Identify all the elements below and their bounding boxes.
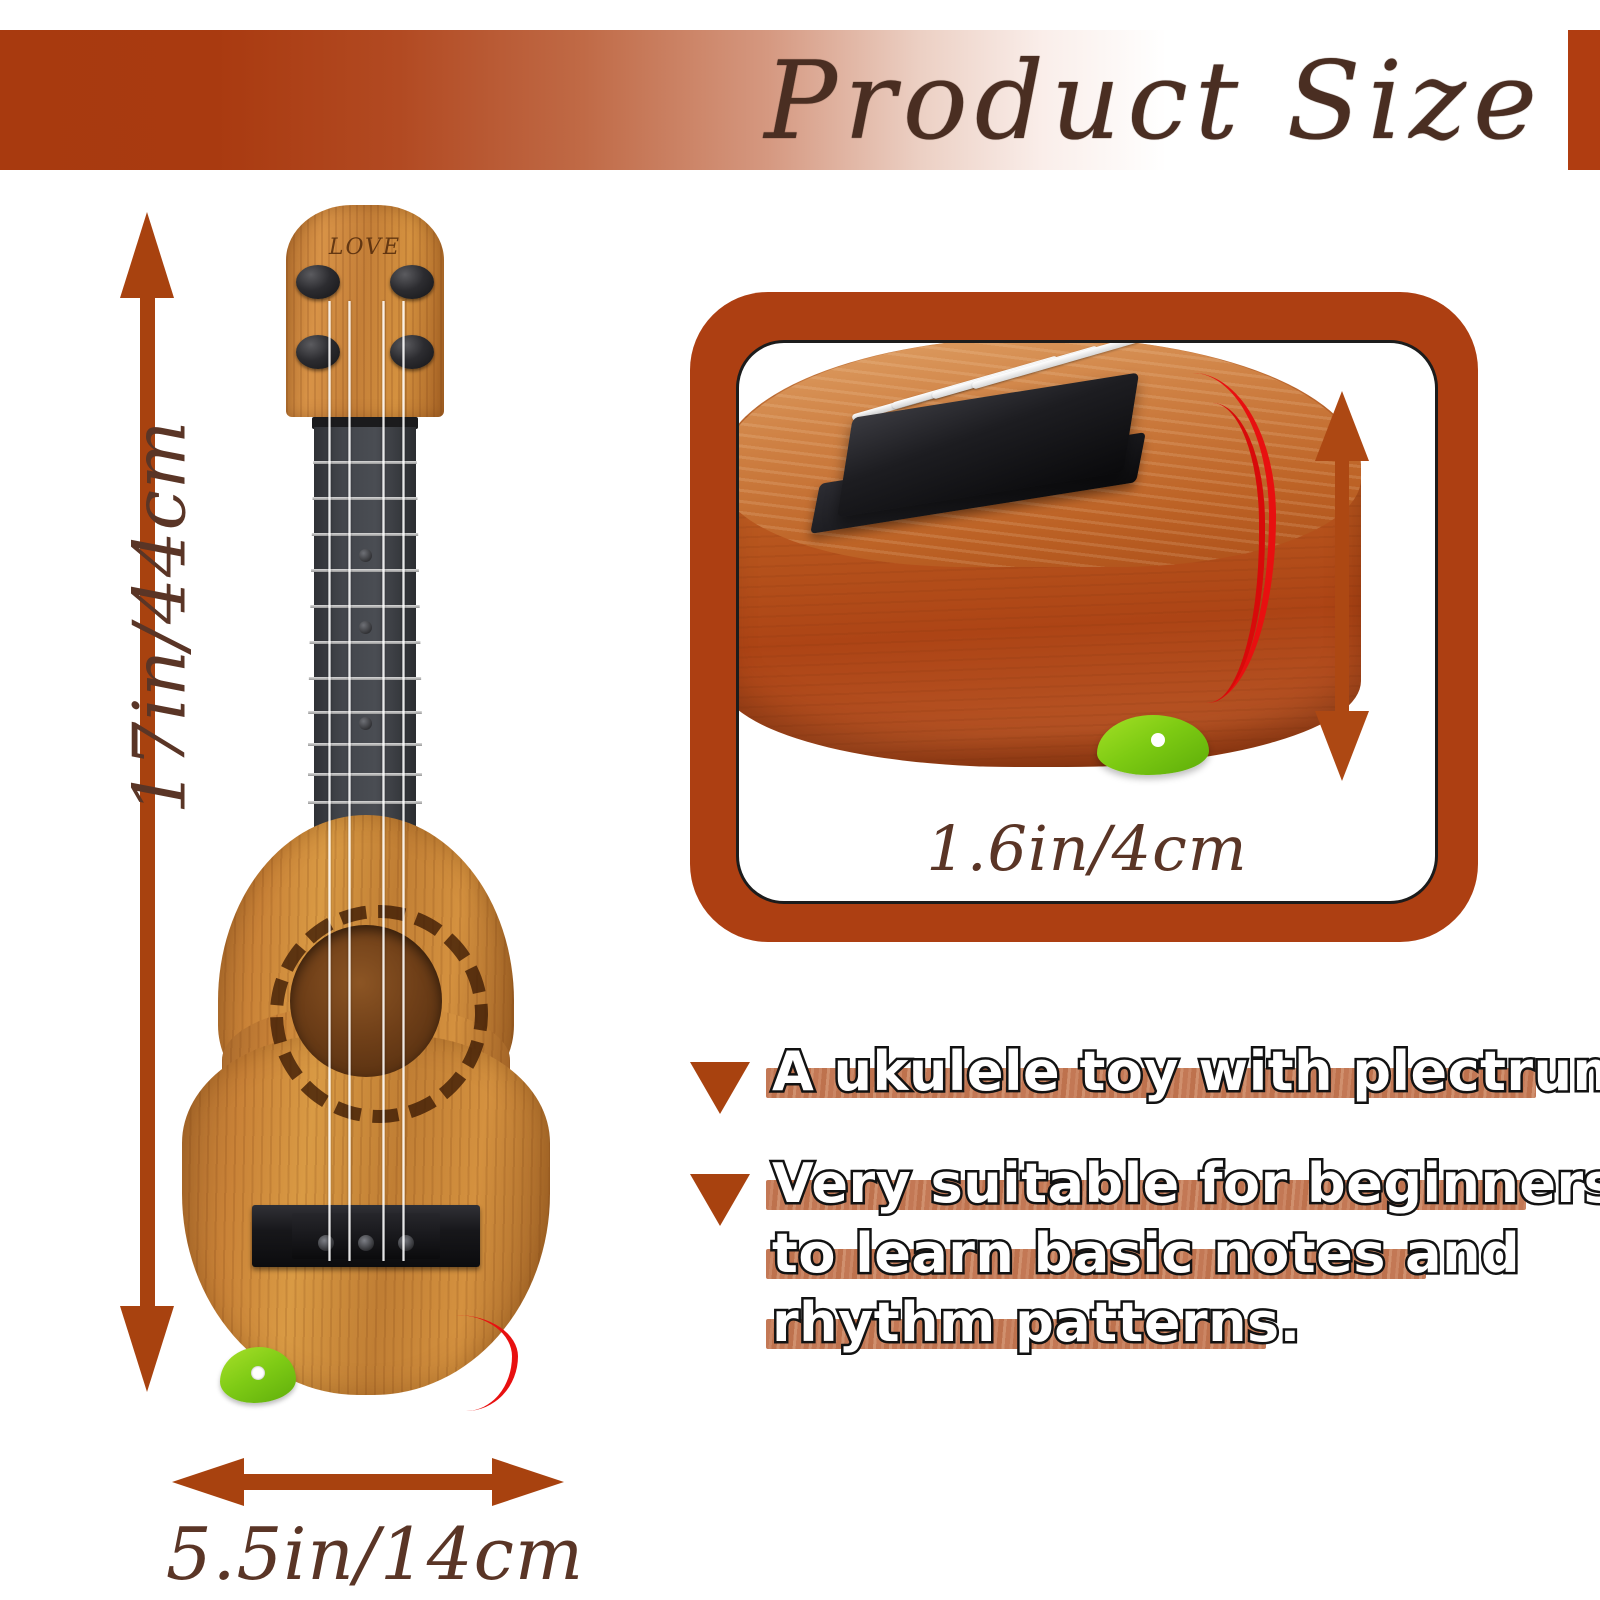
feature-line-text: rhythm patterns. [772, 1295, 1600, 1351]
header-banner: Product Size [0, 30, 1600, 170]
tuning-peg [390, 265, 434, 299]
bridge [252, 1205, 480, 1267]
banner-endcap [1568, 30, 1600, 170]
triangle-down-icon [690, 1062, 750, 1114]
feature-list: A ukulele toy with plectrum Very suitabl… [690, 1044, 1580, 1474]
string [382, 301, 385, 1261]
bridge-string-hole [358, 1235, 374, 1251]
inset-photo-area: 1.6in/4cm [736, 340, 1438, 904]
width-dimension-arrow [172, 1452, 564, 1512]
pick-cord [416, 1315, 518, 1411]
feature-line-text: A ukulele toy with plectrum [772, 1044, 1600, 1100]
string [348, 301, 351, 1261]
feature-line: rhythm patterns. [772, 1295, 1600, 1351]
sound-hole [290, 925, 442, 1077]
inset-pick-hole [1151, 733, 1165, 747]
bridge-string-hole [318, 1235, 334, 1251]
tuning-peg [296, 335, 340, 369]
headstock: LOVE [286, 205, 444, 417]
arrow-shaft-horizontal [220, 1474, 516, 1490]
feature-line: to learn basic notes and [772, 1226, 1600, 1282]
depth-dimension-label: 1.6in/4cm [739, 812, 1435, 885]
feature-line-text: to learn basic notes and [772, 1226, 1600, 1282]
tuning-peg [390, 335, 434, 369]
arrow-shaft-vertical [1335, 449, 1349, 723]
headstock-brand-label: LOVE [286, 235, 444, 260]
feature-item: Very suitable for beginners to learn bas… [690, 1156, 1580, 1365]
feature-text: A ukulele toy with plectrum [772, 1044, 1600, 1114]
feature-line: Very suitable for beginners [772, 1156, 1600, 1212]
arrow-head-right-icon [492, 1458, 564, 1506]
page-title: Product Size [0, 28, 1570, 174]
fret-marker-dot [359, 549, 372, 562]
arrow-head-down-icon [1315, 711, 1369, 781]
depth-dimension-arrow [1309, 391, 1379, 781]
pick-hole [251, 1366, 265, 1380]
tuning-peg [296, 265, 340, 299]
fret-marker-dot [359, 621, 372, 634]
string [402, 301, 405, 1261]
ukulele-illustration: LOVE [166, 205, 566, 1395]
feature-line-text: Very suitable for beginners [772, 1156, 1600, 1212]
fret-marker-dot [359, 717, 372, 730]
triangle-down-icon [690, 1174, 750, 1226]
feature-line: A ukulele toy with plectrum [772, 1044, 1600, 1100]
bridge-string-hole [398, 1235, 414, 1251]
width-dimension-label: 5.5in/14cm [150, 1512, 600, 1596]
feature-item: A ukulele toy with plectrum [690, 1044, 1580, 1114]
inset-detail-panel: 1.6in/4cm [690, 292, 1478, 942]
string [328, 301, 331, 1261]
plectrum-pick [220, 1347, 296, 1403]
feature-text: Very suitable for beginners to learn bas… [772, 1156, 1600, 1365]
